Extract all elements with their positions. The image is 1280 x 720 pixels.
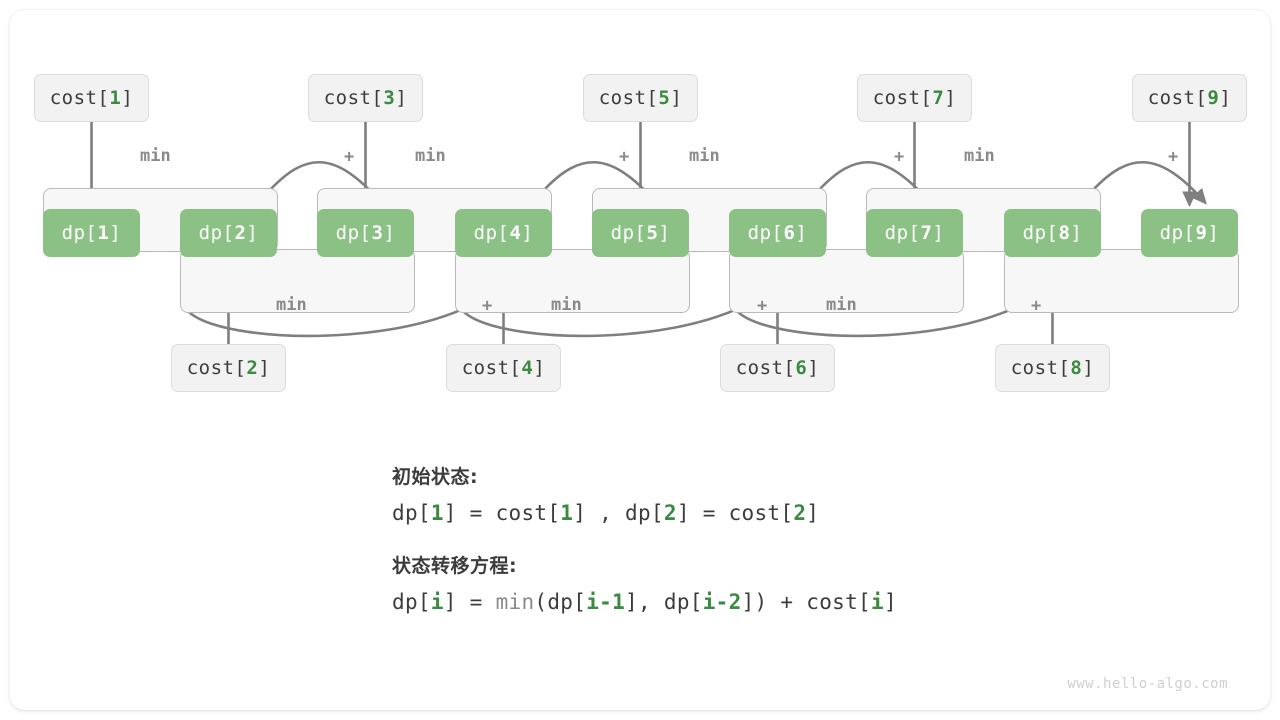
node-index: 4 <box>521 357 533 379</box>
node-label: dp[ <box>62 222 98 244</box>
cost-box-cost-5: cost[5] <box>583 74 698 122</box>
formula-token-3: ] = <box>444 590 496 614</box>
formula-token-5: (dp[ <box>534 590 586 614</box>
initial-state-heading: 初始状态: <box>392 462 1152 489</box>
formula-token-4: min <box>496 590 535 614</box>
node-label-close: ] <box>1219 87 1231 109</box>
node-index: 6 <box>795 357 807 379</box>
node-label-close: ] <box>395 87 407 109</box>
cost-box-cost-6: cost[6] <box>720 344 835 392</box>
node-label: dp[ <box>199 222 235 244</box>
node-label: dp[ <box>1023 222 1059 244</box>
dp-box-dp-4: dp[4] <box>455 209 552 257</box>
node-label: cost[ <box>187 357 247 379</box>
node-label-close: ] <box>533 357 545 379</box>
node-label-close: ] <box>1207 222 1219 244</box>
node-index: 3 <box>383 87 395 109</box>
node-index: 8 <box>1058 222 1070 244</box>
node-label: cost[ <box>462 357 522 379</box>
dp-box-dp-6: dp[6] <box>729 209 826 257</box>
node-index: 2 <box>246 357 258 379</box>
formula-token-1: dp[ <box>392 590 431 614</box>
edge-label-top-+-2: + <box>344 147 354 167</box>
transition-heading: 状态转移方程: <box>392 551 1152 578</box>
node-index: 6 <box>783 222 795 244</box>
formula-token-5: ] , dp[ <box>573 501 664 525</box>
dp-box-dp-2: dp[2] <box>180 209 277 257</box>
dp-box-dp-5: dp[5] <box>592 209 689 257</box>
caption-block: 初始状态: dp[1] = cost[1] , dp[2] = cost[2] … <box>392 462 1152 640</box>
node-label: cost[ <box>1011 357 1071 379</box>
node-label: cost[ <box>873 87 933 109</box>
formula-token-10: i <box>871 590 884 614</box>
edge-label-bottom-+-4: + <box>757 296 767 316</box>
node-index: 8 <box>1070 357 1082 379</box>
node-index: 4 <box>509 222 521 244</box>
node-label-close: ] <box>383 222 395 244</box>
edge-label-bottom-+-2: + <box>482 296 492 316</box>
node-label: cost[ <box>1148 87 1208 109</box>
formula-token-6: i-1 <box>586 590 625 614</box>
node-index: 9 <box>1195 222 1207 244</box>
node-label: dp[ <box>336 222 372 244</box>
node-label: dp[ <box>748 222 784 244</box>
node-label-close: ] <box>932 222 944 244</box>
dp-box-dp-1: dp[1] <box>43 209 140 257</box>
formula-token-8: i-2 <box>703 590 742 614</box>
transition-formula: dp[i] = min(dp[i-1], dp[i-2]) + cost[i] <box>392 590 1152 614</box>
initial-state-formula: dp[1] = cost[1] , dp[2] = cost[2] <box>392 501 1152 525</box>
watermark: www.hello-algo.com <box>1067 676 1228 692</box>
node-label: cost[ <box>599 87 659 109</box>
node-label-close: ] <box>658 222 670 244</box>
node-index: 2 <box>234 222 246 244</box>
formula-token-7: ], dp[ <box>625 590 703 614</box>
formula-token-6: 2 <box>664 501 677 525</box>
edge-label-bottom-min-5: min <box>826 295 857 315</box>
dp-box-dp-3: dp[3] <box>317 209 414 257</box>
node-label: dp[ <box>611 222 647 244</box>
node-label-close: ] <box>944 87 956 109</box>
node-label-close: ] <box>670 87 682 109</box>
cost-box-cost-9: cost[9] <box>1132 74 1247 122</box>
node-label-close: ] <box>109 222 121 244</box>
edge-label-top-min-1: min <box>140 146 171 166</box>
node-index: 5 <box>658 87 670 109</box>
node-index: 1 <box>97 222 109 244</box>
cost-box-cost-3: cost[3] <box>308 74 423 122</box>
node-label-close: ] <box>807 357 819 379</box>
node-label: dp[ <box>885 222 921 244</box>
edge-label-top-+-6: + <box>894 147 904 167</box>
cost-box-cost-4: cost[4] <box>446 344 561 392</box>
dp-box-dp-7: dp[7] <box>866 209 963 257</box>
node-label-close: ] <box>521 222 533 244</box>
node-label-close: ] <box>246 222 258 244</box>
edge-label-top-min-7: min <box>964 146 995 166</box>
node-index: 5 <box>646 222 658 244</box>
formula-token-9: ] <box>806 501 819 525</box>
edge-label-top-min-5: min <box>689 146 720 166</box>
edge-label-bottom-min-3: min <box>551 295 582 315</box>
node-index: 7 <box>920 222 932 244</box>
node-index: 1 <box>109 87 121 109</box>
edge-label-bottom-+-6: + <box>1031 296 1041 316</box>
formula-token-2: 1 <box>431 501 444 525</box>
edge-label-top-min-3: min <box>415 146 446 166</box>
node-label: cost[ <box>736 357 796 379</box>
node-label-close: ] <box>795 222 807 244</box>
cost-box-cost-2: cost[2] <box>171 344 286 392</box>
node-label: cost[ <box>324 87 384 109</box>
node-label-close: ] <box>1070 222 1082 244</box>
formula-token-2: i <box>431 590 444 614</box>
cost-box-cost-1: cost[1] <box>34 74 149 122</box>
formula-token-4: 1 <box>560 501 573 525</box>
node-index: 7 <box>932 87 944 109</box>
dp-box-dp-9: dp[9] <box>1141 209 1238 257</box>
edge-label-bottom-min-1: min <box>276 295 307 315</box>
node-label: dp[ <box>474 222 510 244</box>
formula-token-8: 2 <box>793 501 806 525</box>
cost-box-cost-8: cost[8] <box>995 344 1110 392</box>
node-label-close: ] <box>1082 357 1094 379</box>
node-label-close: ] <box>258 357 270 379</box>
node-label: cost[ <box>50 87 110 109</box>
node-label-close: ] <box>121 87 133 109</box>
node-label: dp[ <box>1160 222 1196 244</box>
edge-label-top-+-8: + <box>1168 147 1178 167</box>
formula-token-3: ] = cost[ <box>444 501 561 525</box>
formula-token-1: dp[ <box>392 501 431 525</box>
formula-token-7: ] = cost[ <box>677 501 794 525</box>
node-index: 3 <box>371 222 383 244</box>
edge-label-top-+-4: + <box>619 147 629 167</box>
diagram-canvas: cost[1]cost[3]cost[5]cost[7]cost[9] dp[1… <box>0 0 1280 720</box>
formula-token-11: ] <box>884 590 897 614</box>
dp-box-dp-8: dp[8] <box>1004 209 1101 257</box>
cost-box-cost-7: cost[7] <box>857 74 972 122</box>
node-index: 9 <box>1207 87 1219 109</box>
formula-token-9: ]) + cost[ <box>742 590 871 614</box>
